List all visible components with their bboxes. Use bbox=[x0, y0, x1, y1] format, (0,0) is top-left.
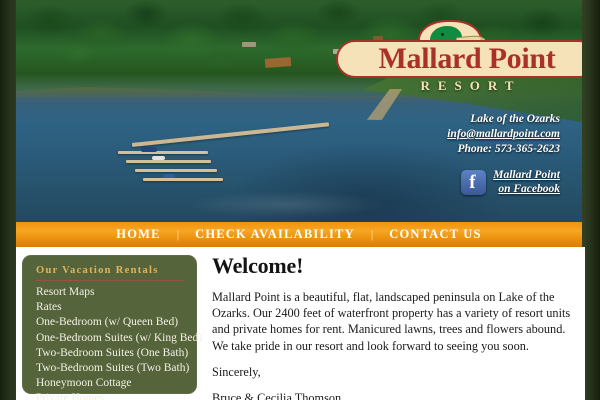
email-link[interactable]: info@mallardpoint.com bbox=[447, 128, 560, 140]
list-item[interactable]: Resort Maps bbox=[36, 285, 187, 300]
sidebar-heading: Our Vacation Rentals bbox=[22, 255, 197, 280]
boat-slip bbox=[126, 160, 211, 163]
list-item[interactable]: One-Bedroom Suites (w/ King Bed) bbox=[36, 331, 187, 346]
location-text: Lake of the Ozarks bbox=[447, 112, 560, 127]
sidebar-item-two-bedroom-suites-one-bath[interactable]: Two-Bedroom Suites (One Bath) bbox=[36, 346, 187, 361]
page-title: Welcome! bbox=[212, 253, 572, 279]
facebook-block[interactable]: f Mallard Point on Facebook bbox=[461, 168, 560, 196]
sidebar-item-one-bedroom-queen[interactable]: One-Bedroom (w/ Queen Bed) bbox=[36, 315, 187, 330]
list-item[interactable]: One-Bedroom (w/ Queen Bed) bbox=[36, 315, 187, 330]
list-item[interactable]: Private Homes bbox=[36, 391, 187, 400]
main-dock bbox=[132, 122, 329, 147]
site-logo[interactable]: Mallard Point RESORT bbox=[336, 20, 582, 92]
main-navigation: HOME | CHECK AVAILABILITY | CONTACT US bbox=[16, 222, 582, 247]
facebook-link-line2[interactable]: on Facebook bbox=[493, 182, 560, 196]
main-content: Welcome! Mallard Point is a beautiful, f… bbox=[212, 253, 572, 400]
sidebar-item-rates[interactable]: Rates bbox=[36, 300, 187, 315]
nav-item-check-availability[interactable]: CHECK AVAILABILITY bbox=[181, 227, 369, 242]
nav-item-home[interactable]: HOME bbox=[102, 227, 174, 242]
facebook-icon[interactable]: f bbox=[461, 170, 486, 195]
boat-slip bbox=[135, 169, 217, 172]
sidebar-item-one-bedroom-suites-king[interactable]: One-Bedroom Suites (w/ King Bed) bbox=[36, 331, 187, 346]
welcome-paragraph: Mallard Point is a beautiful, flat, land… bbox=[212, 289, 572, 354]
banner-photo: Mallard Point RESORT Lake of the Ozarks … bbox=[16, 0, 582, 222]
nav-item-contact-us[interactable]: CONTACT US bbox=[375, 227, 495, 242]
cabin-roof bbox=[265, 57, 292, 68]
sidebar-vacation-rentals: Our Vacation Rentals Resort Maps Rates O… bbox=[22, 255, 197, 394]
cabin-roof bbox=[242, 42, 256, 47]
sidebar-divider bbox=[36, 280, 183, 281]
sidebar-item-two-bedroom-suites-two-bath[interactable]: Two-Bedroom Suites (Two Bath) bbox=[36, 361, 187, 376]
sidebar-item-resort-maps[interactable]: Resort Maps bbox=[36, 285, 187, 300]
contact-info: Lake of the Ozarks info@mallardpoint.com… bbox=[447, 112, 560, 157]
list-item[interactable]: Two-Bedroom Suites (Two Bath) bbox=[36, 361, 187, 376]
boat bbox=[152, 156, 165, 160]
sidebar-item-private-homes[interactable]: Private Homes bbox=[36, 391, 187, 400]
sidebar-list: Resort Maps Rates One-Bedroom (w/ Queen … bbox=[22, 285, 197, 400]
closing-text: Sincerely, bbox=[212, 364, 572, 380]
page-root: Mallard Point RESORT Lake of the Ozarks … bbox=[0, 0, 600, 400]
phone-text: Phone: 573-365-2623 bbox=[447, 142, 560, 157]
list-item[interactable]: Honeymoon Cottage bbox=[36, 376, 187, 391]
page-frame-left bbox=[0, 0, 16, 400]
content-area: Our Vacation Rentals Resort Maps Rates O… bbox=[16, 247, 585, 400]
facebook-link-line1[interactable]: Mallard Point bbox=[493, 168, 560, 182]
list-item[interactable]: Two-Bedroom Suites (One Bath) bbox=[36, 346, 187, 361]
logo-name-text: Mallard Point bbox=[336, 42, 582, 76]
logo-tagline: RESORT bbox=[336, 78, 582, 94]
signature-text: Bruce & Cecilia Thomson bbox=[212, 390, 572, 400]
boat-slip bbox=[118, 151, 209, 154]
boat bbox=[141, 147, 157, 152]
sidebar-item-honeymoon-cottage[interactable]: Honeymoon Cottage bbox=[36, 376, 187, 391]
water-wake bbox=[186, 191, 390, 218]
list-item[interactable]: Rates bbox=[36, 300, 187, 315]
facebook-label: Mallard Point on Facebook bbox=[493, 168, 560, 196]
duck-eye-icon bbox=[441, 33, 444, 36]
boat-slip bbox=[143, 178, 222, 181]
boat bbox=[163, 174, 175, 178]
